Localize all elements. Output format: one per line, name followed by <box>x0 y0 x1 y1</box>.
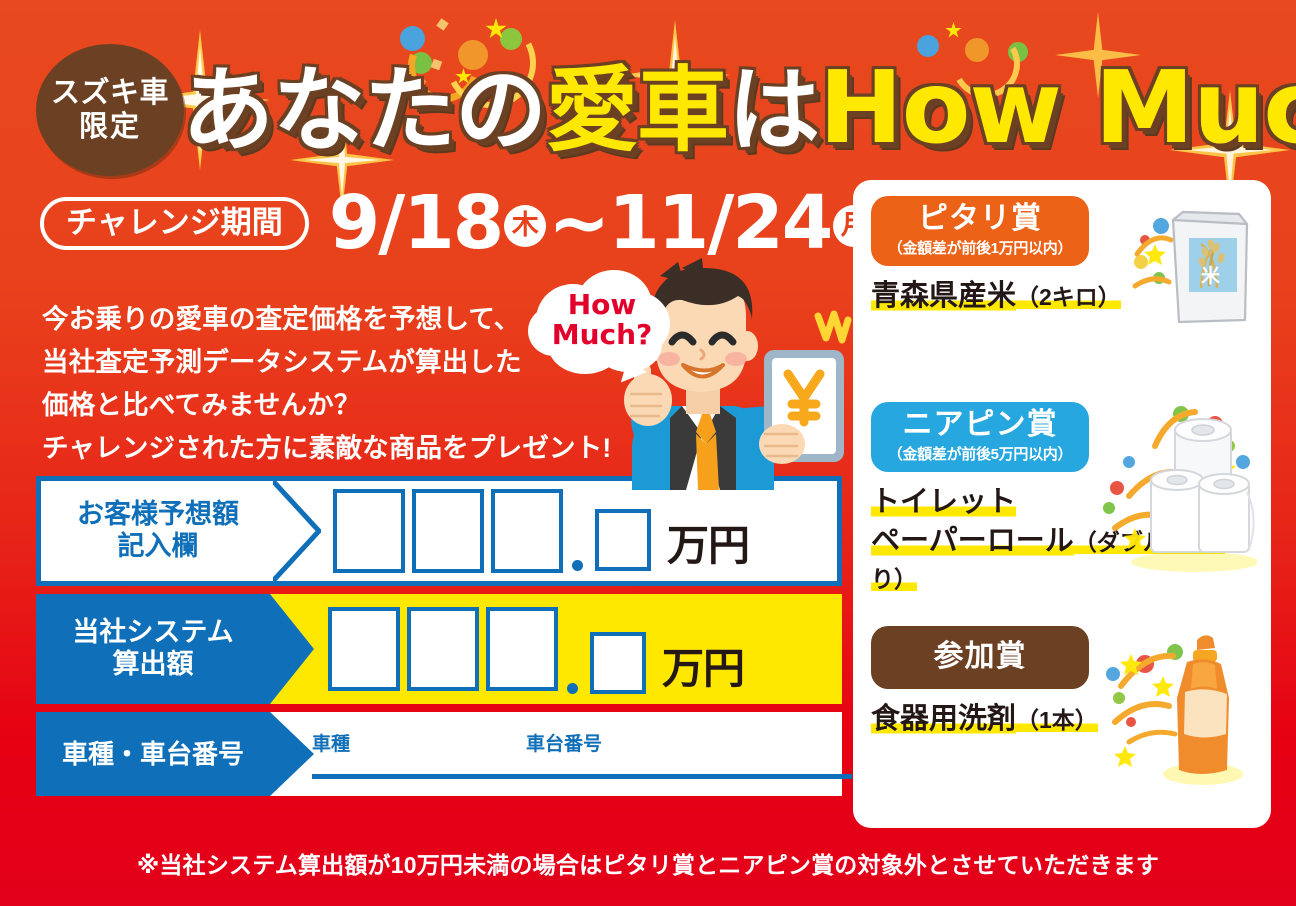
prize-3-name: 参加賞 <box>934 640 1027 673</box>
bubble-line-2: Much? <box>528 320 676 350</box>
prize-2-desc-main-2: ペーパーロール <box>871 525 1074 557</box>
system-decimal-input[interactable] <box>590 632 646 694</box>
system-digit-input[interactable] <box>486 607 558 691</box>
period-start: 9/18 <box>329 180 503 266</box>
description-block: 今お乗りの愛車の査定価格を予想して、 当社査定予測データシステムが算出した 価格… <box>42 298 611 470</box>
flyer-canvas: スズキ車 限定 あなたの愛車はHow Much? チャレンジ期間 9/18木~1… <box>0 0 1296 906</box>
description-line-1: 今お乗りの愛車の査定価格を予想して、 <box>42 298 611 341</box>
prize-1-name: ピタリ賞 <box>918 202 1042 235</box>
decimal-point <box>567 683 578 694</box>
form-row-customer-estimate: お客様予想額 記入欄 万円 <box>36 476 842 586</box>
form-row-3-tag: 車種・車台番号 <box>36 712 270 796</box>
bubble-text: How Much? <box>528 290 676 350</box>
page-title: あなたの愛車はHow Much? <box>182 48 1272 168</box>
form-row-2-body: 万円 <box>270 594 842 704</box>
prizes-panel: ピタリ賞 （金額差が前後1万円以内） 青森県産米（2キロ） <box>853 180 1271 828</box>
form-row-system-amount: 当社システム 算出額 万円 <box>36 594 842 704</box>
form-row-1-tag-line-2: 記入欄 <box>118 531 199 563</box>
form-row-2-tag-line-2: 算出額 <box>113 649 194 681</box>
prize-item: 参加賞 食器用洗剤（1本） <box>871 626 1253 816</box>
how-much-speech-bubble: How Much? <box>528 262 676 384</box>
prize-1-note: （金額差が前後1万円以内） <box>888 237 1072 258</box>
description-line-2: 当社査定予測データシステムが算出した <box>42 341 611 384</box>
form-row-1-tag: お客様予想額 記入欄 <box>41 481 275 581</box>
estimate-decimal-input[interactable] <box>595 509 651 571</box>
description-line-4: チャレンジされた方に素敵な商品をプレゼント! <box>42 427 611 470</box>
decimal-point <box>572 560 583 571</box>
prize-item: ニアピン賞 （金額差が前後5万円以内） トイレット ペーパーロール（ダブル4個入… <box>871 402 1253 626</box>
challenge-period: チャレンジ期間 9/18木~11/24月 <box>40 186 877 260</box>
headline-part-1: あなたの <box>182 60 546 162</box>
vehicle-info-writing-line[interactable] <box>312 774 852 779</box>
system-digit-input[interactable] <box>328 607 400 691</box>
prize-item: ピタリ賞 （金額差が前後1万円以内） 青森県産米（2キロ） <box>871 196 1253 402</box>
vehicle-vin-label: 車台番号 <box>526 729 602 756</box>
system-digit-input[interactable] <box>407 607 479 691</box>
estimate-digit-input[interactable] <box>491 489 563 573</box>
form-row-1-body: 万円 <box>275 481 837 581</box>
vehicle-field-labels: 車種 車台番号 <box>312 729 602 756</box>
entry-form: お客様予想額 記入欄 万円 当社システム 算出額 <box>36 476 842 796</box>
period-tilde: ~ <box>548 180 608 266</box>
chevron-right-icon <box>273 481 321 581</box>
prize-3-pill: 参加賞 <box>871 626 1089 689</box>
badge-line-1: スズキ車 <box>51 76 169 110</box>
estimate-digit-input[interactable] <box>412 489 484 573</box>
description-line-3: 価格と比べてみませんか？ <box>42 384 611 427</box>
toilet-paper-icon <box>1095 400 1257 572</box>
confetti-star <box>945 22 962 39</box>
form-row-vehicle-info: 車種・車台番号 車種 車台番号 <box>36 712 842 796</box>
estimate-digit-input[interactable] <box>333 489 405 573</box>
form-row-1-tag-line-1: お客様予想額 <box>77 499 239 531</box>
period-dates: 9/18木~11/24月 <box>329 186 878 260</box>
form-row-2-unit: 万円 <box>662 635 744 696</box>
form-row-1-unit: 万円 <box>667 512 749 573</box>
period-end: 11/24 <box>608 180 831 266</box>
bubble-line-1: How <box>528 290 676 320</box>
detergent-bottle-icon <box>1101 626 1251 788</box>
svg-text:米: 米 <box>1201 264 1221 287</box>
form-row-2-tag: 当社システム 算出額 <box>36 594 270 704</box>
footnote-text: ※当社システム算出額が10万円未満の場合はピタリ賞とニアピン賞の対象外とさせてい… <box>0 846 1296 880</box>
prize-2-pill: ニアピン賞 （金額差が前後5万円以内） <box>871 402 1089 472</box>
prize-1-pill: ピタリ賞 （金額差が前後1万円以内） <box>871 196 1089 266</box>
badge-line-2: 限定 <box>79 110 141 144</box>
prize-2-desc-main: トイレット <box>871 486 1016 518</box>
form-row-2-tag-line-1: 当社システム <box>72 617 233 649</box>
suzuki-limited-badge: スズキ車 限定 <box>36 44 184 176</box>
form-row-3-tag-line-1: 車種・車台番号 <box>62 739 244 770</box>
vehicle-model-label: 車種 <box>312 729 350 756</box>
rice-bag-icon: 米 <box>1131 200 1253 330</box>
prize-2-note: （金額差が前後5万円以内） <box>888 443 1072 464</box>
form-row-3-body: 車種 車台番号 <box>270 712 852 796</box>
headline-part-3: は <box>728 60 819 162</box>
prize-1-desc-sub: （2キロ） <box>1016 284 1121 310</box>
prize-2-name: ニアピン賞 <box>903 408 1058 441</box>
prize-1-desc-main: 青森県産米 <box>871 280 1016 312</box>
prize-3-desc-main: 食器用洗剤 <box>871 703 1016 735</box>
headline-part-2: 愛車 <box>546 60 728 162</box>
prize-3-desc-sub: （1本） <box>1016 707 1098 733</box>
headline-part-4: How Much? <box>819 49 1296 166</box>
period-label: チャレンジ期間 <box>40 197 309 250</box>
period-start-day: 木 <box>504 205 546 247</box>
